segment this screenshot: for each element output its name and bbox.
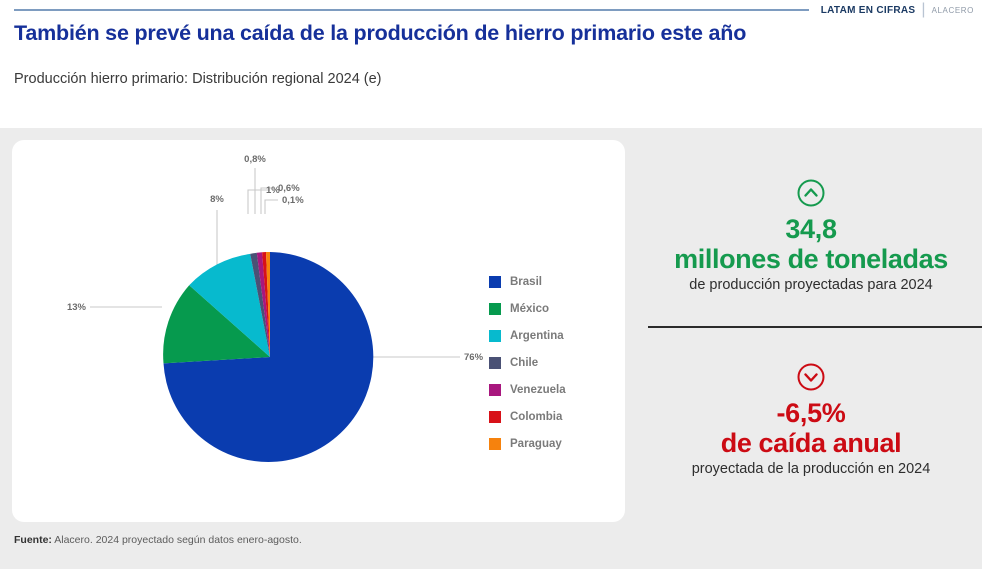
pie-label-mexico: 13%	[67, 302, 87, 313]
pie-label-argentina: 8%	[210, 194, 224, 205]
header-separator: |	[921, 1, 925, 19]
legend-item-chile[interactable]: Chile	[489, 349, 619, 376]
source-label: Fuente:	[14, 534, 52, 546]
source-text: Alacero. 2024 proyectado según datos ene…	[52, 534, 302, 546]
stat-decline: -6,5% de caída anual proyectada de la pr…	[640, 362, 982, 479]
legend-swatch-chile	[489, 357, 501, 369]
pie-label-brasil: 76%	[464, 352, 484, 363]
pie-legend: Brasil México Argentina Chile Venezuela …	[489, 268, 619, 457]
page-subtitle: Producción hierro primario: Distribución…	[14, 71, 382, 87]
stats-divider	[648, 326, 982, 328]
legend-swatch-venezuela	[489, 384, 501, 396]
legend-item-venezuela[interactable]: Venezuela	[489, 376, 619, 403]
stats-panel: 34,8 millones de toneladas de producción…	[640, 140, 982, 522]
legend-label-mexico: México	[510, 303, 549, 315]
legend-item-argentina[interactable]: Argentina	[489, 322, 619, 349]
legend-label-argentina: Argentina	[510, 330, 564, 342]
stat-production: 34,8 millones de toneladas de producción…	[640, 178, 982, 295]
header-strip: LATAM EN CIFRAS | ALACERO	[0, 0, 982, 20]
legend-swatch-mexico	[489, 303, 501, 315]
pie-chart-card: 76% 13% 8% 1% 0,8% 0,6% 0,1% Brasil Méxi…	[12, 140, 625, 522]
pie-label-venezuela: 0,8%	[244, 154, 266, 165]
source-note: Fuente: Alacero. 2024 proyectado según d…	[14, 534, 302, 546]
legend-swatch-paraguay	[489, 438, 501, 450]
stat-production-caption: de producción proyectadas para 2024	[640, 277, 982, 294]
legend-item-mexico[interactable]: México	[489, 295, 619, 322]
legend-label-chile: Chile	[510, 357, 538, 369]
leader-line-paraguay	[265, 200, 278, 214]
legend-label-paraguay: Paraguay	[510, 438, 562, 450]
pie-label-paraguay: 0,1%	[282, 195, 304, 206]
legend-item-colombia[interactable]: Colombia	[489, 403, 619, 430]
stat-decline-headline: de caída anual	[640, 428, 982, 458]
legend-label-venezuela: Venezuela	[510, 384, 566, 396]
header-rule	[14, 9, 809, 11]
page-title: También se prevé una caída de la producc…	[14, 21, 964, 46]
legend-swatch-colombia	[489, 411, 501, 423]
stat-decline-caption: proyectada de la producción en 2024	[640, 461, 982, 478]
legend-label-colombia: Colombia	[510, 411, 562, 423]
legend-item-brasil[interactable]: Brasil	[489, 268, 619, 295]
pie-label-colombia: 0,6%	[278, 183, 300, 194]
legend-item-paraguay[interactable]: Paraguay	[489, 430, 619, 457]
legend-swatch-brasil	[489, 276, 501, 288]
stat-production-headline: millones de toneladas	[640, 244, 982, 274]
header-sub-brand: ALACERO	[932, 6, 982, 15]
header-brand: LATAM EN CIFRAS	[821, 5, 916, 16]
stat-production-value: 34,8	[640, 214, 982, 244]
chevron-down-circle-icon	[796, 362, 826, 392]
stat-decline-value: -6,5%	[640, 398, 982, 428]
chevron-up-circle-icon	[796, 178, 826, 208]
legend-label-brasil: Brasil	[510, 276, 542, 288]
legend-swatch-argentina	[489, 330, 501, 342]
